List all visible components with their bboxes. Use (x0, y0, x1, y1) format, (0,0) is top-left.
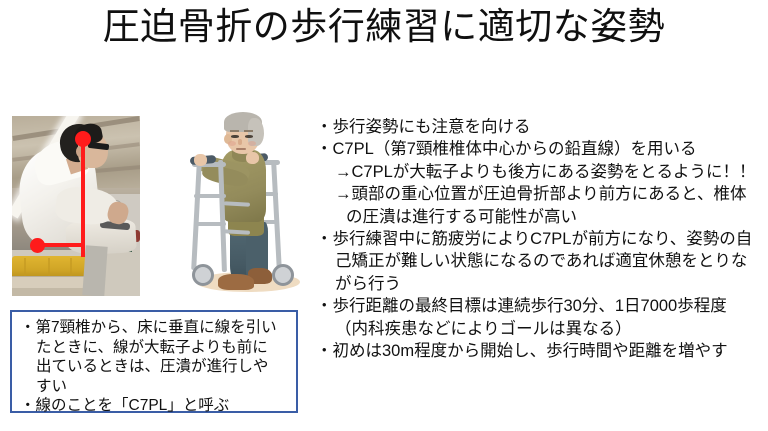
walker-frame-link (224, 229, 250, 234)
bullet-line: ・歩行距離の最終目標は連続歩行30分、1日7000歩程度 (316, 295, 768, 317)
note-line: ・線のことを「C7PL」と呼ぶ (20, 396, 290, 416)
slide-canvas: 圧迫骨折の歩行練習に適切な姿勢 (0, 0, 768, 431)
walker-wheel (192, 264, 214, 286)
note-box: ・第7頸椎から、床に垂直に線を引い たときに、線が大転子よりも前に 出ているとき… (10, 310, 298, 413)
walker-illustration (186, 110, 306, 300)
walker-frame-crossbar (194, 194, 226, 198)
illustration-person-shoe (218, 274, 254, 290)
illustration-person-eyebrow (230, 130, 239, 132)
bullet-line: ・初めは30m程度から開始し、歩行時間や距離を増やす (316, 340, 768, 362)
note-box-content: ・第7頸椎から、床に垂直に線を引い たときに、線が大転子よりも前に 出ているとき… (12, 312, 296, 416)
illustration-person-hand (194, 154, 207, 166)
note-line: ・第7頸椎から、床に垂直に線を引い (20, 318, 290, 338)
photo-bed-mat-seam (24, 258, 26, 278)
bullet-line: がら行う (316, 273, 768, 295)
walker-wheel (272, 264, 294, 286)
illustration-person-eyebrow (244, 130, 253, 132)
page-title: 圧迫骨折の歩行練習に適切な姿勢 (0, 4, 768, 50)
bullet-line: ・歩行姿勢にも注意を向ける (316, 116, 768, 138)
note-line: たときに、線が大転子よりも前に (20, 338, 290, 358)
note-line: すい (20, 377, 290, 397)
bullet-line: （内科疾患などによりゴールは異なる） (316, 318, 768, 340)
photo-bed-mat-seam (48, 258, 50, 278)
bullet-line: ・歩行練習中に筋疲労によりC7PLが前方になり、姿勢の自 (316, 228, 768, 250)
photo-bed-mat-seam (70, 258, 72, 278)
walker-frame-crossbar (194, 222, 226, 226)
bullet-list: ・歩行姿勢にも注意を向ける ・C7PL（第7頸椎椎体中心からの鉛直線）を用いる … (316, 116, 768, 362)
patient-photo (12, 116, 140, 296)
c7-marker-dot (75, 131, 91, 147)
walker-frame-leg (191, 162, 202, 270)
c7pl-vertical-line (81, 138, 85, 257)
illustration-person-blush (228, 141, 236, 146)
bullet-line: の圧潰は進行する可能性が高い (316, 206, 768, 228)
bullet-line: ・C7PL（第7頸椎椎体中心からの鉛直線）を用いる (316, 138, 768, 160)
illustration-person-blush (248, 141, 256, 146)
photo-person-lower-leg (82, 245, 107, 296)
illustration-person-hand (246, 152, 259, 164)
bullet-line: →C7PLが大転子よりも後方にある姿勢をとるように！！ (316, 161, 768, 183)
note-line: 出ているときは、圧潰が進行しや (20, 357, 290, 377)
bullet-line: →頭部の重心位置が圧迫骨折部より前方にあると、椎体 (316, 183, 768, 205)
illustration-person-mouth (236, 148, 246, 150)
illustration-person-eye (245, 135, 253, 138)
illustration-person-eye (231, 135, 239, 138)
bullet-line: 己矯正が難しい状態になるのであれば適宜休憩をとりな (316, 250, 768, 272)
greater-trochanter-marker-dot (30, 238, 45, 253)
walker-frame-leg (271, 162, 282, 270)
illustration-person-nose (238, 139, 242, 145)
